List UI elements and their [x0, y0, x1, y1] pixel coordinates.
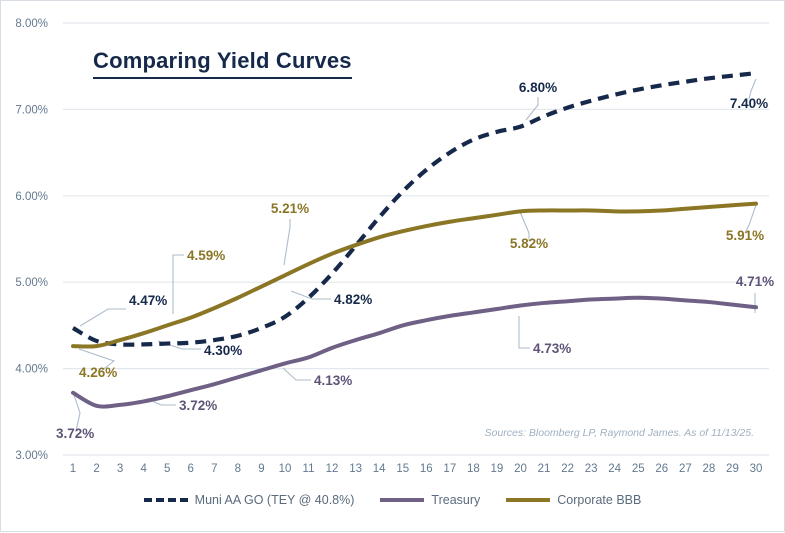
series-line-treasury — [73, 298, 756, 407]
x-axis-tick-label: 19 — [491, 463, 504, 475]
x-axis-tick-label: 8 — [235, 463, 241, 475]
legend-item-muni[interactable]: Muni AA GO (TEY @ 40.8%) — [144, 493, 355, 507]
data-point-label: 4.13% — [314, 373, 352, 388]
x-axis-tick-label: 24 — [608, 463, 621, 475]
y-axis-tick-label: 5.00% — [15, 277, 48, 289]
gridlines — [63, 23, 769, 455]
x-axis-tick-label: 14 — [373, 463, 386, 475]
x-axis-tick-label: 26 — [655, 463, 668, 475]
x-axis-tick-label: 29 — [726, 463, 739, 475]
x-axis-tick-label: 15 — [396, 463, 409, 475]
x-axis-tick-label: 20 — [514, 463, 527, 475]
y-axis-tick-label: 6.00% — [15, 191, 48, 203]
x-axis-tick-label: 12 — [326, 463, 339, 475]
leader-line — [519, 316, 530, 348]
data-point-label: 4.26% — [79, 365, 117, 380]
x-axis-tick-label: 9 — [258, 463, 264, 475]
yield-curve-plot: 3.00%4.00%5.00%6.00%7.00%8.00% 123456789… — [1, 1, 785, 533]
legend-swatch-treasury — [380, 498, 424, 502]
source-note: Sources: Bloomberg LP, Raymond James. As… — [485, 427, 754, 439]
leader-line — [173, 255, 184, 314]
x-axis-tick-label: 18 — [467, 463, 480, 475]
x-axis-tick-label: 25 — [632, 463, 645, 475]
y-axis-tick-label: 8.00% — [15, 18, 48, 30]
x-axis-tick-label: 28 — [702, 463, 715, 475]
x-axis-tick-label: 5 — [164, 463, 170, 475]
y-axis-tick-labels: 3.00%4.00%5.00%6.00%7.00%8.00% — [15, 18, 48, 462]
annotation-leader-lines — [74, 79, 756, 431]
x-axis-tick-label: 2 — [93, 463, 99, 475]
chart-card: 3.00%4.00%5.00%6.00%7.00%8.00% 123456789… — [0, 0, 785, 532]
x-axis-tick-label: 23 — [585, 463, 598, 475]
page-title: Comparing Yield Curves — [93, 48, 352, 79]
x-axis-tick-label: 11 — [303, 463, 315, 475]
leader-line — [283, 368, 311, 380]
y-axis-tick-label: 3.00% — [15, 450, 48, 462]
x-axis-tick-label: 1 — [70, 463, 76, 475]
x-axis-tick-label: 4 — [140, 463, 147, 475]
data-point-label: 6.80% — [519, 80, 557, 95]
x-axis-tick-label: 27 — [679, 463, 692, 475]
data-point-label: 5.21% — [271, 201, 309, 216]
x-axis-tick-label: 21 — [538, 463, 551, 475]
data-point-label: 4.30% — [204, 343, 242, 358]
x-axis-tick-label: 3 — [117, 463, 123, 475]
chart-legend: Muni AA GO (TEY @ 40.8%)TreasuryCorporat… — [1, 493, 784, 507]
x-axis-tick-label: 7 — [211, 463, 217, 475]
x-axis-tick-label: 13 — [349, 463, 362, 475]
x-axis-tick-label: 17 — [443, 463, 456, 475]
leader-line — [526, 97, 538, 120]
x-axis-tick-label: 22 — [561, 463, 574, 475]
y-axis-tick-label: 7.00% — [15, 104, 48, 116]
legend-label-muni: Muni AA GO (TEY @ 40.8%) — [195, 493, 355, 507]
x-axis-tick-label: 10 — [279, 463, 292, 475]
data-point-label: 7.40% — [730, 96, 768, 111]
legend-item-treasury[interactable]: Treasury — [380, 493, 480, 507]
leader-line — [284, 219, 290, 265]
data-point-label: 5.91% — [726, 228, 764, 243]
data-point-label: 4.59% — [187, 248, 225, 263]
data-point-labels: 4.47%4.30%4.82%6.80%7.40%3.72%3.72%4.13%… — [56, 80, 774, 441]
data-point-label: 4.73% — [533, 341, 571, 356]
data-point-label: 3.72% — [179, 398, 217, 413]
y-axis-tick-label: 4.00% — [15, 364, 48, 376]
series-line-corporate — [73, 204, 756, 347]
x-axis-tick-label: 30 — [750, 463, 763, 475]
data-point-label: 5.82% — [510, 236, 548, 251]
series-curves — [73, 73, 756, 406]
legend-swatch-muni — [144, 498, 188, 502]
x-axis-tick-label: 16 — [420, 463, 433, 475]
legend-item-corporate[interactable]: Corporate BBB — [506, 493, 641, 507]
data-point-label: 4.82% — [334, 292, 372, 307]
data-point-label: 4.47% — [129, 293, 167, 308]
legend-swatch-corporate — [506, 498, 550, 502]
data-point-label: 4.71% — [736, 274, 774, 289]
x-axis-tick-labels: 1234567891011121314151617181920212223242… — [70, 463, 763, 475]
legend-label-corporate: Corporate BBB — [557, 493, 641, 507]
leader-line — [80, 309, 126, 326]
x-axis-tick-label: 6 — [188, 463, 194, 475]
legend-label-treasury: Treasury — [431, 493, 480, 507]
data-point-label: 3.72% — [56, 426, 94, 441]
